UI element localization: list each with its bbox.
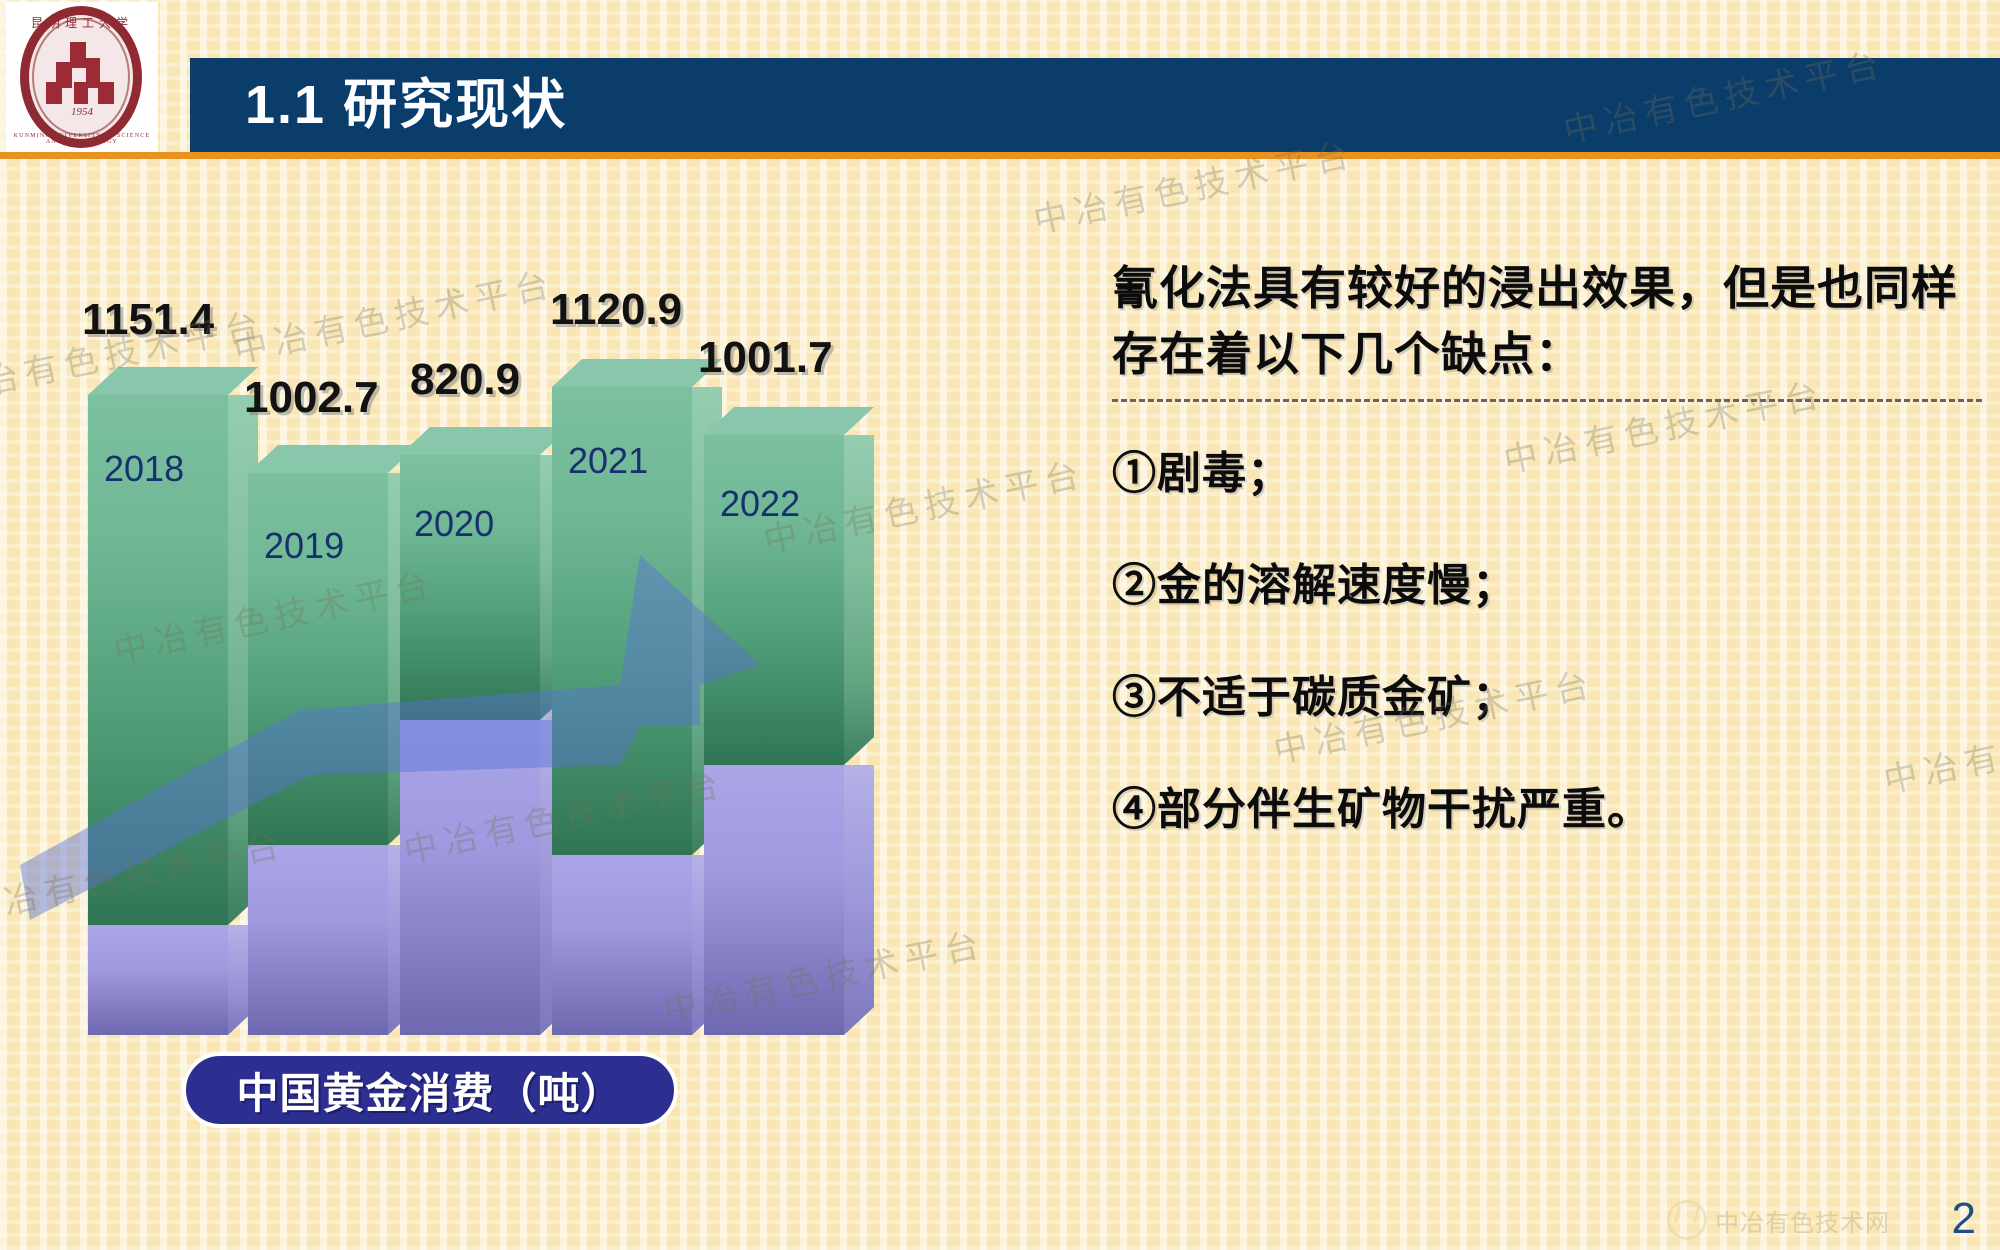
pedestal-front-2021 [552, 855, 692, 1035]
page-number: 2 [1952, 1194, 1976, 1244]
bar-top-2020 [400, 427, 570, 455]
bar-top-2022 [704, 407, 874, 435]
brand-mark-icon [1667, 1200, 1707, 1240]
bar-year-2019: 2019 [264, 525, 344, 567]
university-logo: 昆明理工大学 1954 KUNMING UNIVERSITY OF SCIENC… [6, 2, 158, 152]
explanation-panel: 氰化法具有较好的浸出效果，但是也同样存在着以下几个缺点： ①剧毒； ②金的溶解速… [1112, 255, 1982, 894]
bar-value-2021: 1120.9 [550, 285, 682, 335]
pedestal-front-2019 [248, 845, 388, 1035]
pedestal-front-2022 [704, 765, 844, 1035]
logo-arc-bottom-text: KUNMING UNIVERSITY OF SCIENCE AND TECHNO… [6, 133, 158, 145]
chart-caption-label: 中国黄金消费（吨） [236, 1060, 623, 1121]
bar-front-2020 [400, 455, 540, 720]
bar-value-2020: 820.9 [410, 355, 520, 405]
bar-top-2018 [88, 367, 258, 395]
explanation-item-1: ①剧毒； [1112, 446, 1982, 502]
chart-caption-pill: 中国黄金消费（吨） [182, 1052, 678, 1128]
explanation-item-4: ④部分伴生矿物干扰严重。 [1112, 782, 1982, 838]
bar-year-2020: 2020 [414, 503, 494, 545]
pedestal-side-2022 [844, 765, 874, 1035]
pedestal-front-2020 [400, 720, 540, 1035]
site-brand-watermark: 中冶有色技术网 [1667, 1200, 1890, 1240]
gold-consumption-bar-chart: 1151.4 2018 1002.7 2019 820.9 2020 [0, 165, 880, 1035]
bar-top-2021 [552, 359, 722, 387]
logo-block-emblem [46, 42, 118, 104]
explanation-item-3: ③不适于碳质金矿； [1112, 670, 1982, 726]
bar-side-2022 [844, 435, 874, 765]
brand-watermark-label: 中冶有色技术网 [1715, 1203, 1890, 1238]
presentation-slide: 昆明理工大学 1954 KUNMING UNIVERSITY OF SCIENC… [0, 0, 2000, 1250]
logo-signature: 1954 [46, 106, 118, 118]
bar-group-2021: 1120.9 2021 [552, 335, 722, 1035]
bar-value-2019: 1002.7 [244, 373, 379, 423]
bar-year-2022: 2022 [720, 483, 800, 525]
header-underline-rule [0, 152, 2000, 159]
page-title: 1.1 研究现状 [245, 62, 567, 148]
bar-group-2020: 820.9 2020 [400, 435, 570, 1035]
explanation-item-2: ②金的溶解速度慢； [1112, 558, 1982, 614]
bar-year-2021: 2021 [568, 440, 648, 482]
bar-group-2022: 1001.7 2022 [704, 385, 874, 1035]
bar-group-2019: 1002.7 2019 [248, 435, 418, 1035]
logo-arc-top-text: 昆明理工大学 [6, 14, 158, 31]
explanation-divider [1112, 399, 1982, 402]
bar-group-2018: 1151.4 2018 [88, 345, 258, 1035]
pedestal-front-2018 [88, 925, 228, 1035]
explanation-heading: 氰化法具有较好的浸出效果，但是也同样存在着以下几个缺点： [1112, 255, 1982, 387]
bar-value-2022: 1001.7 [698, 333, 833, 383]
bar-top-2019 [248, 445, 418, 473]
bar-value-2018: 1151.4 [82, 295, 214, 345]
bar-year-2018: 2018 [104, 448, 184, 490]
